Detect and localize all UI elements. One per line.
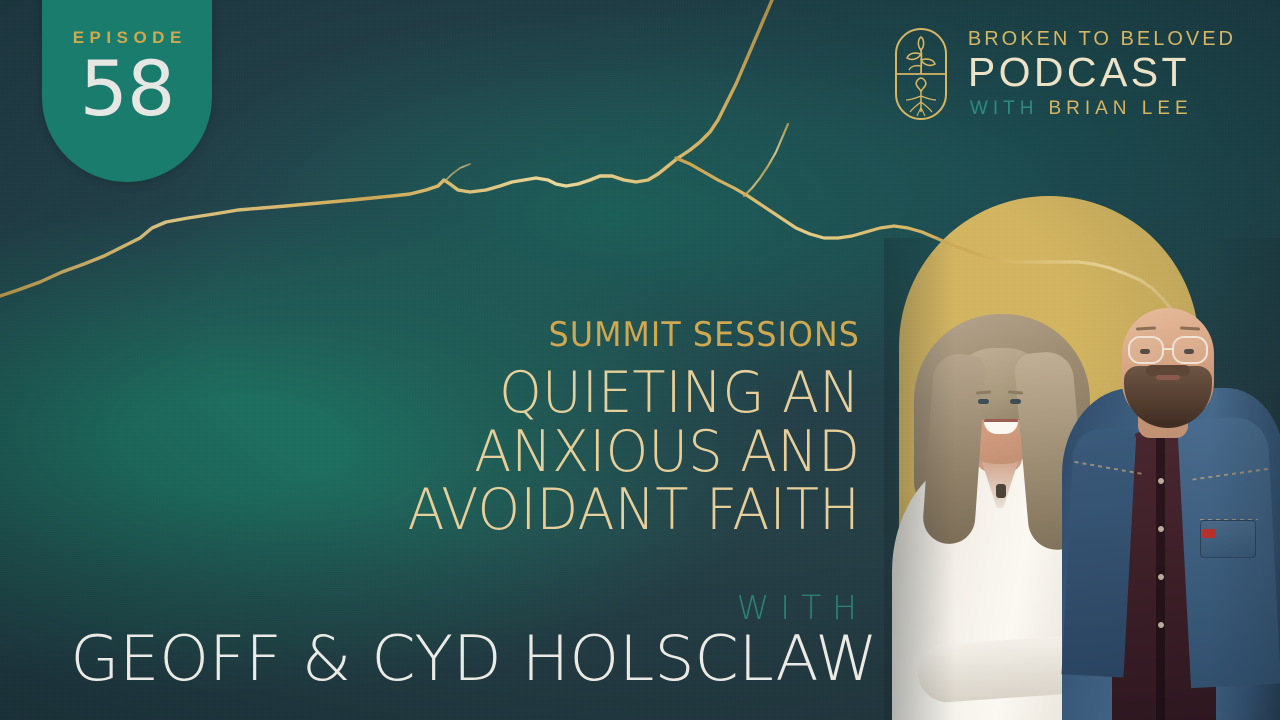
man-jacket-pocket — [1200, 520, 1256, 558]
brand-host-line: WITHBRIAN LEE — [965, 98, 1236, 120]
man-mouth — [1156, 375, 1180, 380]
guest-names: GEOFF & CYD HOLSCLAW — [58, 628, 890, 690]
brand-with-word: WITH — [970, 98, 1039, 119]
title-line-1: QUIETING AN — [43, 364, 860, 423]
man-jacket-red-tab — [1202, 529, 1216, 538]
series-eyebrow: SUMMIT SESSIONS — [60, 318, 860, 352]
brand-podcast-word: PODCAST — [965, 52, 1236, 93]
episode-title-block: SUMMIT SESSIONS QUIETING AN ANXIOUS AND … — [0, 318, 870, 540]
man-jacket-lapel-left — [1062, 427, 1137, 678]
man-jacket-seam — [1200, 519, 1258, 521]
brand-host-name: BRIAN LEE — [1048, 98, 1192, 119]
seedling-in-capsule-icon — [893, 26, 949, 122]
woman-eye-right — [1010, 399, 1021, 404]
man-shirt-button — [1158, 526, 1164, 532]
brand-logo-lockup: BROKEN TO BELOVED PODCAST WITHBRIAN LEE — [893, 26, 1236, 122]
man-shirt-button — [1158, 622, 1164, 628]
page-title: QUIETING AN ANXIOUS AND AVOIDANT FAITH — [43, 364, 860, 540]
title-line-2: ANXIOUS AND — [43, 423, 860, 482]
woman-necklace-pendant — [996, 484, 1006, 498]
episode-number: 58 — [80, 52, 175, 126]
podcast-cover-canvas: EPISODE 58 — [0, 0, 1280, 720]
title-line-3: AVOIDANT FAITH — [43, 481, 860, 540]
brand-name-line: BROKEN TO BELOVED — [965, 28, 1236, 51]
man-shirt-button — [1158, 478, 1164, 484]
man-eyeglasses-lens-right — [1172, 336, 1208, 364]
man-shirt-button — [1158, 574, 1164, 580]
woman-eye-left — [978, 399, 989, 404]
brand-logo-text: BROKEN TO BELOVED PODCAST WITHBRIAN LEE — [965, 28, 1236, 120]
episode-badge: EPISODE 58 — [42, 0, 212, 182]
man-eyeglasses-bridge — [1163, 348, 1174, 351]
guest-photo-geoff-and-cyd-holsclaw — [884, 238, 1280, 720]
man-eyeglasses-lens-left — [1128, 336, 1164, 364]
